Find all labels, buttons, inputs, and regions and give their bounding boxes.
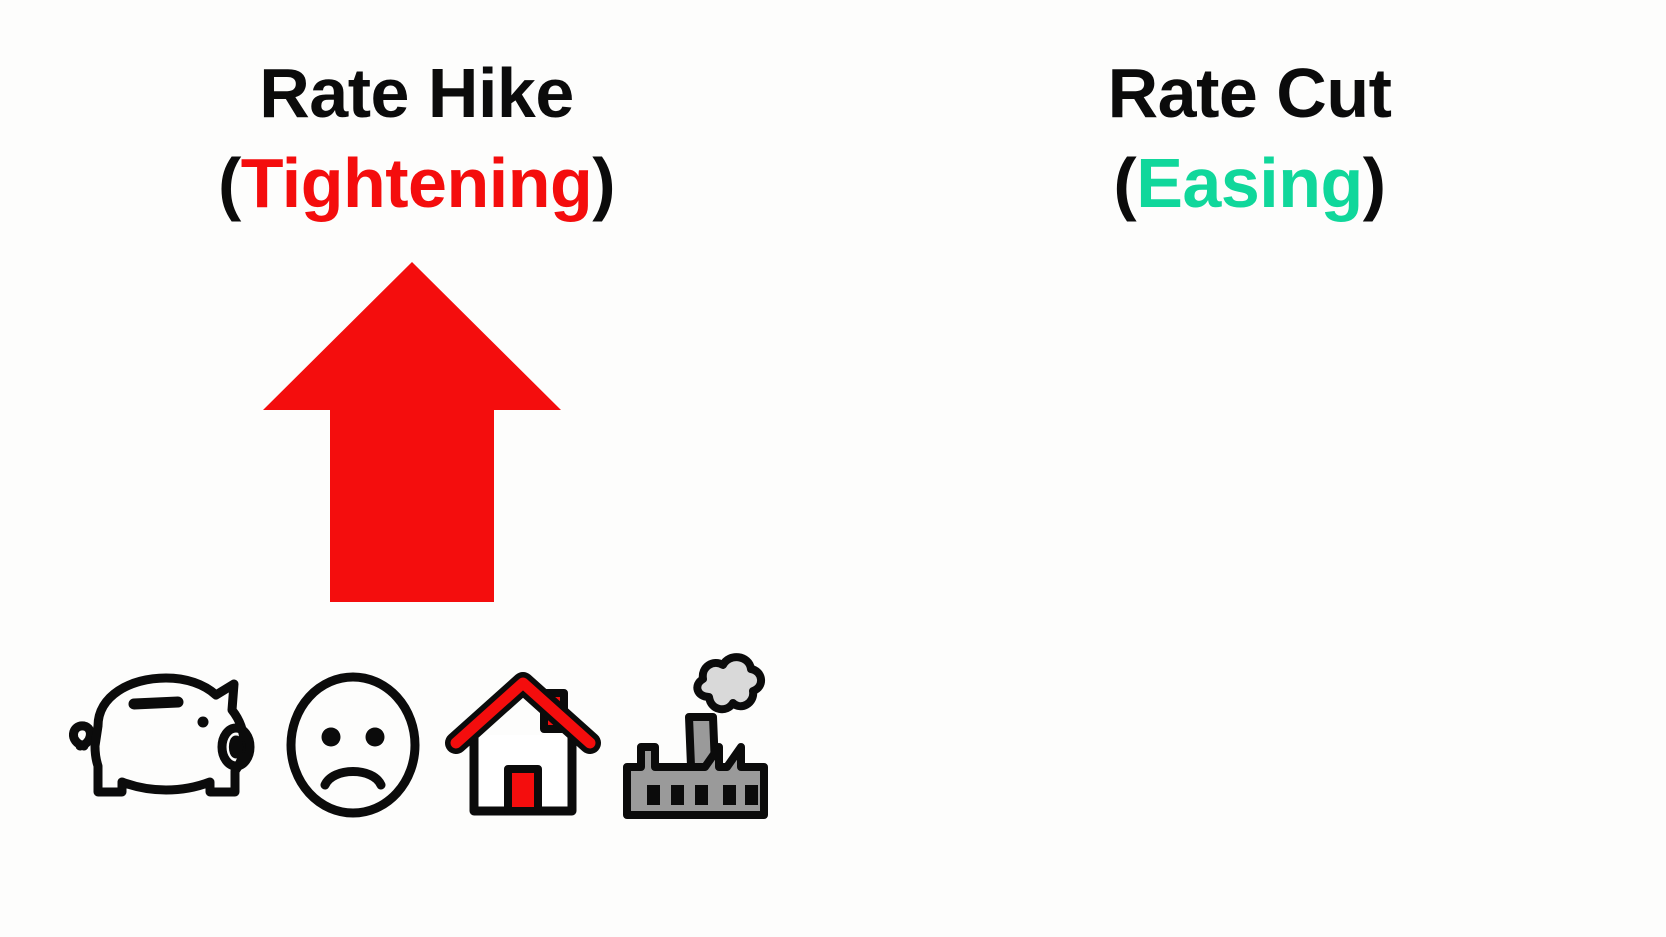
panel-rate-cut: Rate Cut (Easing) xyxy=(833,0,1666,937)
piggy-bank-icon xyxy=(58,654,258,819)
subtitle-easing: (Easing) xyxy=(833,148,1666,218)
paren-open: ( xyxy=(218,144,241,222)
subtitle-tightening: (Tightening) xyxy=(0,148,833,218)
subtitle-accent-text: Tightening xyxy=(241,144,592,222)
icon-row-rate-hike xyxy=(58,619,768,819)
rate-policy-infographic: Rate Hike (Tightening) xyxy=(0,0,1666,937)
paren-open: ( xyxy=(1113,144,1136,222)
up-arrow-icon xyxy=(263,262,561,602)
subtitle-accent-text: Easing xyxy=(1136,144,1363,222)
panel-rate-hike: Rate Hike (Tightening) xyxy=(0,0,833,937)
house-icon xyxy=(448,669,598,819)
sad-face-icon xyxy=(283,669,423,819)
factory-smoke-icon xyxy=(623,619,768,819)
page-title-rate-hike: Rate Hike xyxy=(0,58,833,128)
paren-close: ) xyxy=(1363,144,1386,222)
page-title-rate-cut: Rate Cut xyxy=(833,58,1666,128)
paren-close: ) xyxy=(592,144,615,222)
